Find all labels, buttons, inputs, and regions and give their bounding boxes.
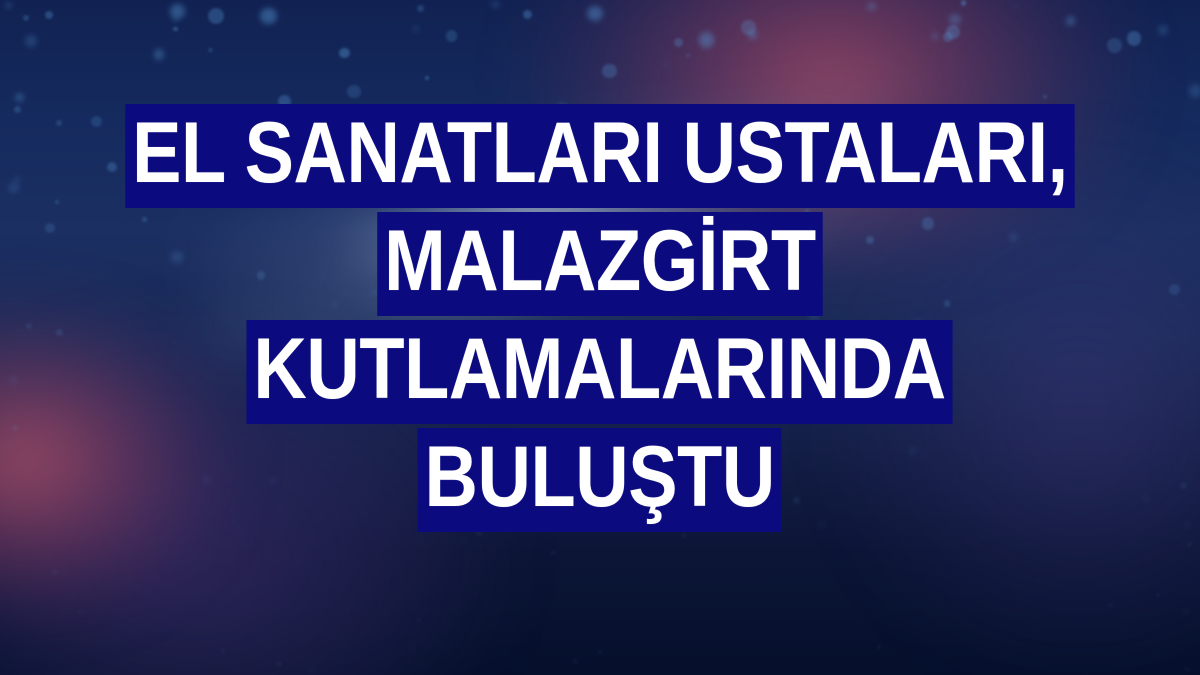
headline-line-4: BULUŞTU [0,428,1200,532]
headline-line-3-text: KUTLAMALARINDA [247,320,953,424]
headline-line-1: EL SANATLARI USTALARI, [0,104,1200,208]
headline-line-1-text: EL SANATLARI USTALARI, [125,104,1074,208]
page-title: EL SANATLARI USTALARI, MALAZGİRT KUTLAMA… [0,104,1200,532]
headline-line-2: MALAZGİRT [0,212,1200,316]
headline-line-3: KUTLAMALARINDA [0,320,1200,424]
headline-line-2-text: MALAZGİRT [377,212,822,316]
headline-graphic: EL SANATLARI USTALARI, MALAZGİRT KUTLAMA… [0,0,1200,675]
headline-line-4-text: BULUŞTU [418,428,782,532]
